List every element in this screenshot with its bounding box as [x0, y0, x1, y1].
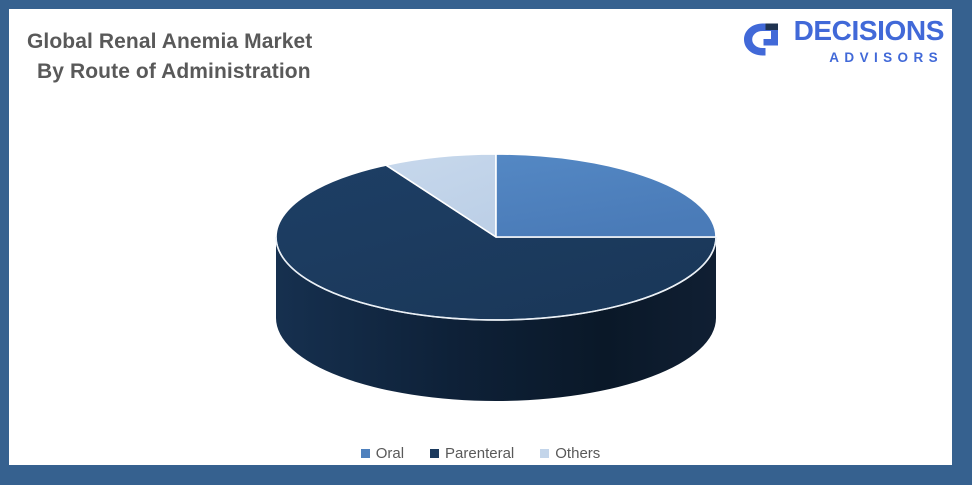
screenshot-root: Global Renal Anemia Market By Route of A…	[0, 0, 972, 485]
page-title-line-1: Global Renal Anemia Market	[27, 27, 527, 57]
logo-wordmark: DECISIONS ADVISORS	[794, 17, 944, 65]
chart-canvas: Global Renal Anemia Market By Route of A…	[9, 9, 952, 465]
legend-label-others: Others	[555, 446, 600, 461]
brand-logo: DECISIONS ADVISORS	[739, 17, 944, 65]
logo-name: DECISIONS	[794, 17, 944, 45]
legend-swatch-others	[540, 449, 549, 458]
pie-chart-svg	[257, 134, 737, 424]
pie-slice-parenteral-top	[276, 165, 716, 320]
chart-legend: Oral Parenteral Others	[9, 446, 952, 461]
pie-slice-others-top	[386, 154, 496, 237]
pie-rim-highlight	[276, 237, 716, 320]
pie-slice-parenteral-wall	[276, 237, 716, 401]
page-title-line-2: By Route of Administration	[27, 57, 527, 87]
legend-item-others[interactable]: Others	[540, 446, 600, 461]
page-title: Global Renal Anemia Market By Route of A…	[27, 27, 527, 87]
legend-swatch-oral	[361, 449, 370, 458]
legend-item-oral[interactable]: Oral	[361, 446, 404, 461]
legend-label-parenteral: Parenteral	[445, 446, 514, 461]
legend-item-parenteral[interactable]: Parenteral	[430, 446, 514, 461]
decisions-logo-icon	[739, 18, 785, 64]
legend-label-oral: Oral	[376, 446, 404, 461]
pie-slice-oral-top	[496, 154, 716, 237]
legend-swatch-parenteral	[430, 449, 439, 458]
logo-tagline: ADVISORS	[794, 51, 944, 65]
